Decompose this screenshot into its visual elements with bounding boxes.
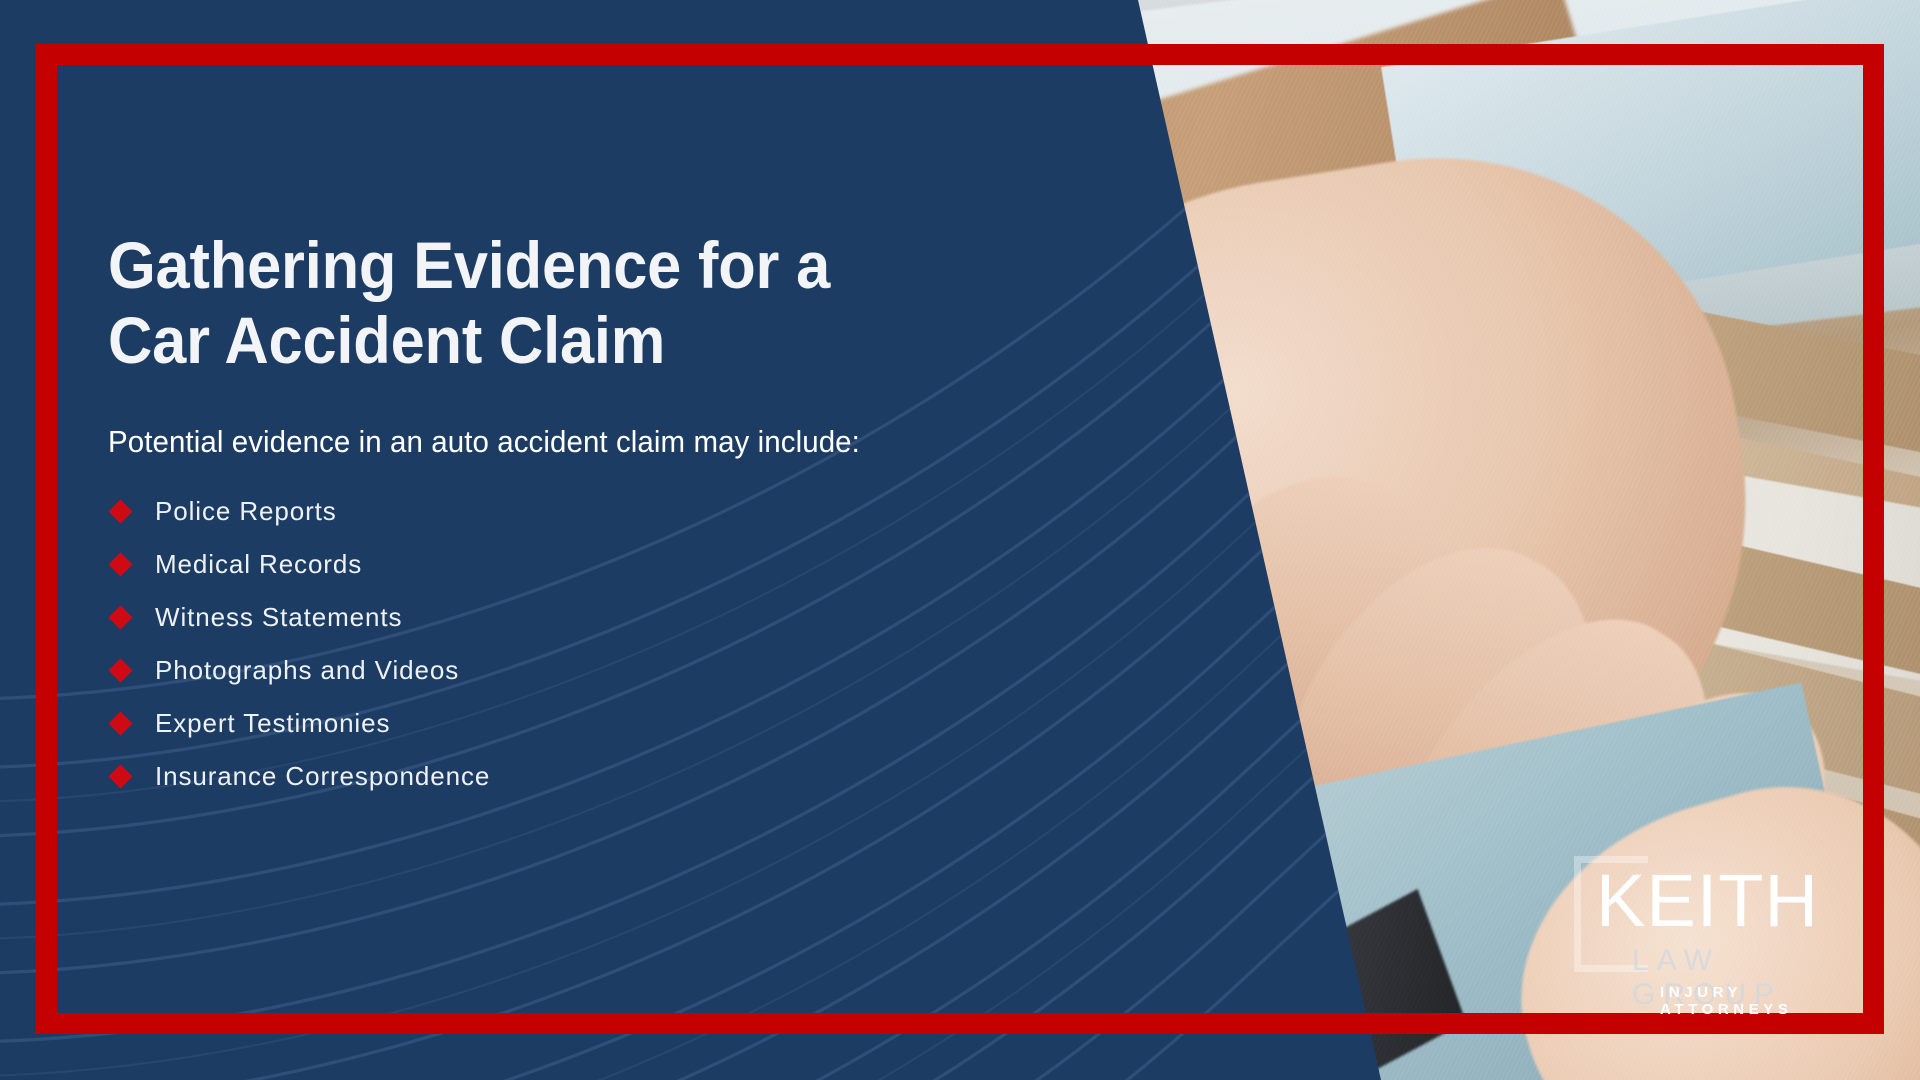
list-item-label: Police Reports (155, 496, 337, 527)
evidence-list: Police Reports Medical Records Witness S… (108, 490, 1168, 797)
page-title: Gathering Evidence for a Car Accident Cl… (108, 228, 1094, 378)
content-block: Gathering Evidence for a Car Accident Cl… (108, 228, 1168, 808)
list-item: Expert Testimonies (108, 702, 1168, 744)
list-item: Insurance Correspondence (108, 755, 1168, 797)
list-item-label: Insurance Correspondence (155, 761, 490, 792)
brand-logo: KEITH LAW GROUP INJURY ATTORNEYS (1574, 856, 1866, 1016)
list-item-label: Witness Statements (155, 602, 402, 633)
diamond-bullet-icon (108, 711, 132, 735)
diamond-bullet-icon (108, 552, 132, 576)
list-item: Medical Records (108, 543, 1168, 585)
logo-tagline-text: INJURY ATTORNEYS (1660, 984, 1866, 1018)
list-item-label: Photographs and Videos (155, 655, 459, 686)
diamond-bullet-icon (108, 658, 132, 682)
list-item: Police Reports (108, 490, 1168, 532)
list-item-label: Medical Records (155, 549, 362, 580)
diamond-bullet-icon (108, 605, 132, 629)
diamond-bullet-icon (108, 499, 132, 523)
list-item: Witness Statements (108, 596, 1168, 638)
diamond-bullet-icon (108, 764, 132, 788)
infographic-canvas: Gathering Evidence for a Car Accident Cl… (0, 0, 1920, 1080)
list-item-label: Expert Testimonies (155, 708, 390, 739)
subtitle: Potential evidence in an auto accident c… (108, 424, 1115, 460)
list-item: Photographs and Videos (108, 649, 1168, 691)
logo-primary-text: KEITH (1596, 864, 1819, 938)
